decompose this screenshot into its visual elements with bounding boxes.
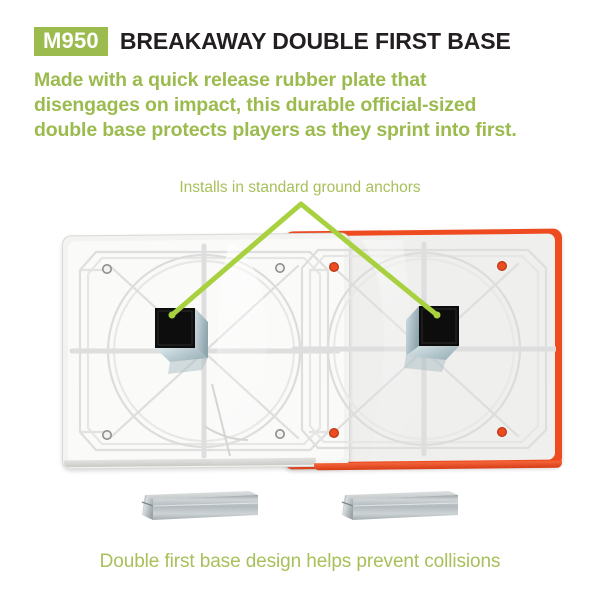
base-molding-detail	[62, 226, 564, 472]
callout-prevents-collisions: Double first base design helps prevent c…	[0, 551, 600, 573]
description-line-3: double base protects players as they spr…	[34, 118, 574, 143]
page-title: BREAKAWAY DOUBLE FIRST BASE	[120, 30, 511, 53]
product-infographic: M950 BREAKAWAY DOUBLE FIRST BASE Made wi…	[0, 0, 600, 600]
product-photo-double-first-base	[62, 226, 564, 472]
description-line-2: disengages on impact, this durable offic…	[34, 93, 574, 118]
model-number-badge: M950	[34, 27, 108, 56]
header: M950 BREAKAWAY DOUBLE FIRST BASE	[34, 24, 511, 58]
ground-anchor-sleeve-left	[137, 486, 262, 523]
right-anchor-receptacle	[404, 306, 459, 372]
ground-anchor-sleeve-right	[337, 486, 462, 523]
callout-installs-in-ground-anchors: Installs in standard ground anchors	[0, 179, 600, 197]
description-line-1: Made with a quick release rubber plate t…	[34, 68, 574, 93]
left-anchor-receptacle	[155, 308, 208, 374]
product-description: Made with a quick release rubber plate t…	[34, 68, 574, 143]
